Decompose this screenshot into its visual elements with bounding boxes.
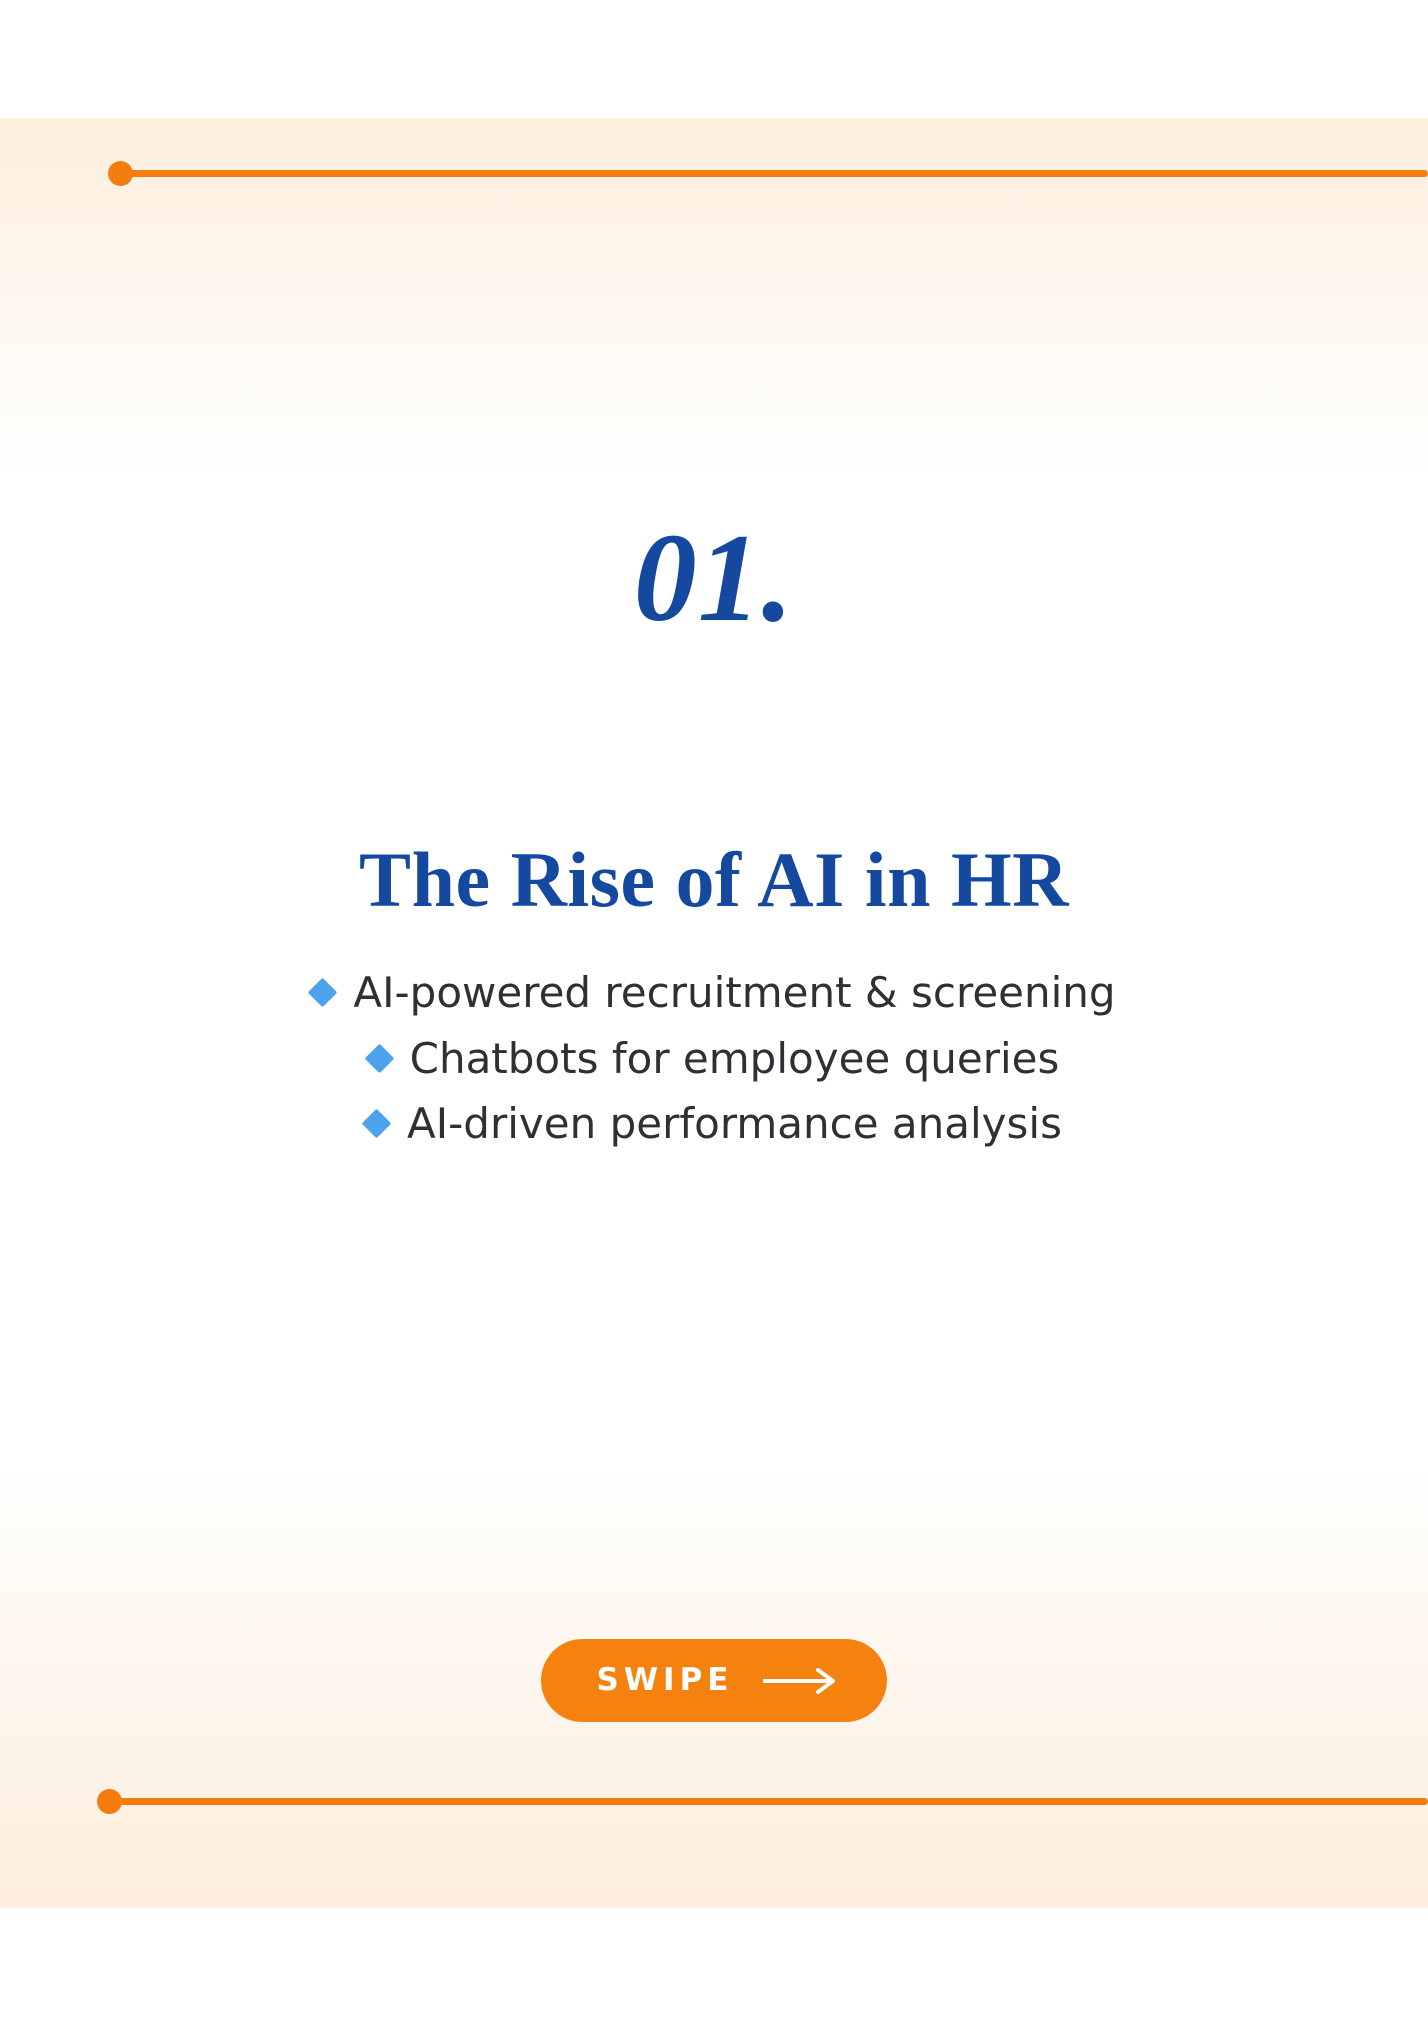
swipe-cta-container: SWIPE (0, 1639, 1428, 1722)
diamond-bullet-icon (308, 978, 338, 1008)
diamond-bullet-icon (364, 1043, 394, 1073)
diamond-bullet-icon (362, 1109, 392, 1139)
list-item: Chatbots for employee queries (369, 1034, 1060, 1084)
slide-number: 01. (0, 516, 1428, 642)
page-title: The Rise of AI in HR (0, 839, 1428, 922)
arrow-right-icon (763, 1668, 837, 1694)
list-item-label: AI-driven performance analysis (407, 1099, 1062, 1149)
list-item: AI-driven performance analysis (366, 1099, 1062, 1149)
swipe-button[interactable]: SWIPE (541, 1639, 888, 1722)
bullet-list: AI-powered recruitment & screening Chatb… (0, 968, 1428, 1165)
list-item: AI-powered recruitment & screening (312, 968, 1115, 1018)
slide-canvas: 01. The Rise of AI in HR AI-powered recr… (0, 0, 1428, 2028)
list-item-label: AI-powered recruitment & screening (353, 968, 1115, 1018)
list-item-label: Chatbots for employee queries (410, 1034, 1060, 1084)
swipe-button-label: SWIPE (597, 1665, 734, 1696)
slide-content: 01. The Rise of AI in HR AI-powered recr… (0, 0, 1428, 2028)
